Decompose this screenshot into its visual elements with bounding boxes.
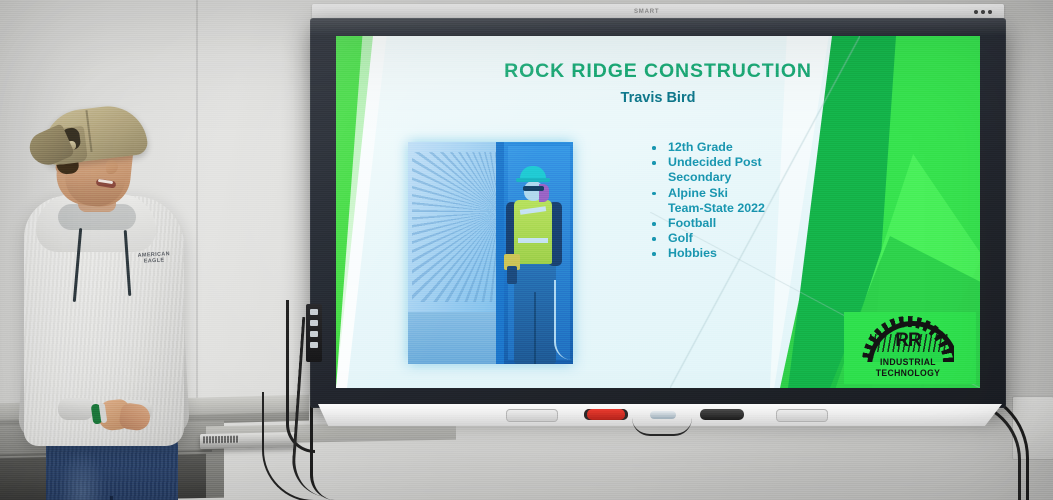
- interactive-display[interactable]: SMART ROCK RIDGE CONSTRUCTION Travis Bi: [302, 4, 1008, 428]
- display-port-panel[interactable]: [306, 304, 322, 362]
- tray-cord: [632, 418, 692, 436]
- sensor-dots-icon: [974, 10, 992, 14]
- slide-subtitle: Travis Bird: [408, 90, 908, 106]
- classroom-presentation-photo: SMART ROCK RIDGE CONSTRUCTION Travis Bi: [0, 0, 1053, 500]
- black-pen[interactable]: [700, 409, 744, 420]
- list-item: Alpine Ski: [646, 186, 856, 201]
- slide-title: ROCK RIDGE CONSTRUCTION: [408, 60, 908, 83]
- list-item: 12th Grade: [646, 140, 856, 155]
- list-item: Football: [646, 216, 856, 231]
- presenter-jeans-fade: [58, 448, 106, 500]
- list-item: Undecided Post: [646, 155, 856, 170]
- presenter: AMERICAN EAGLE: [0, 100, 230, 500]
- logo-text: INDUSTRIAL TECHNOLOGY: [853, 356, 963, 378]
- display-frame-highlight: [310, 18, 1006, 36]
- hoodie-brand-logo: AMERICAN EAGLE: [128, 251, 181, 267]
- list-item: Team-State 2022: [646, 201, 856, 216]
- slide-bullet-list: 12th Grade Undecided Post Secondary Alpi…: [646, 140, 856, 262]
- presenter-jeans-seam: [110, 496, 113, 500]
- list-item: Secondary: [646, 170, 856, 185]
- logo-monogram: RR: [888, 328, 928, 354]
- slide-photo: [408, 142, 573, 364]
- pen-tray-slot-left[interactable]: [506, 409, 558, 422]
- display-brand-label: SMART: [634, 9, 659, 15]
- industrial-technology-logo: RR INDUSTRIAL TECHNOLOGY: [848, 316, 968, 378]
- list-item: Golf: [646, 231, 856, 246]
- red-pen[interactable]: [584, 409, 628, 420]
- display-screen[interactable]: ROCK RIDGE CONSTRUCTION Travis Bird 12th…: [336, 36, 980, 388]
- photo-blue-tint: [408, 142, 573, 364]
- list-item: Hobbies: [646, 246, 856, 261]
- slide-canvas: ROCK RIDGE CONSTRUCTION Travis Bird 12th…: [336, 36, 980, 388]
- pen-tray-slot-right[interactable]: [776, 409, 828, 422]
- presenter-cuff-left: [58, 398, 94, 420]
